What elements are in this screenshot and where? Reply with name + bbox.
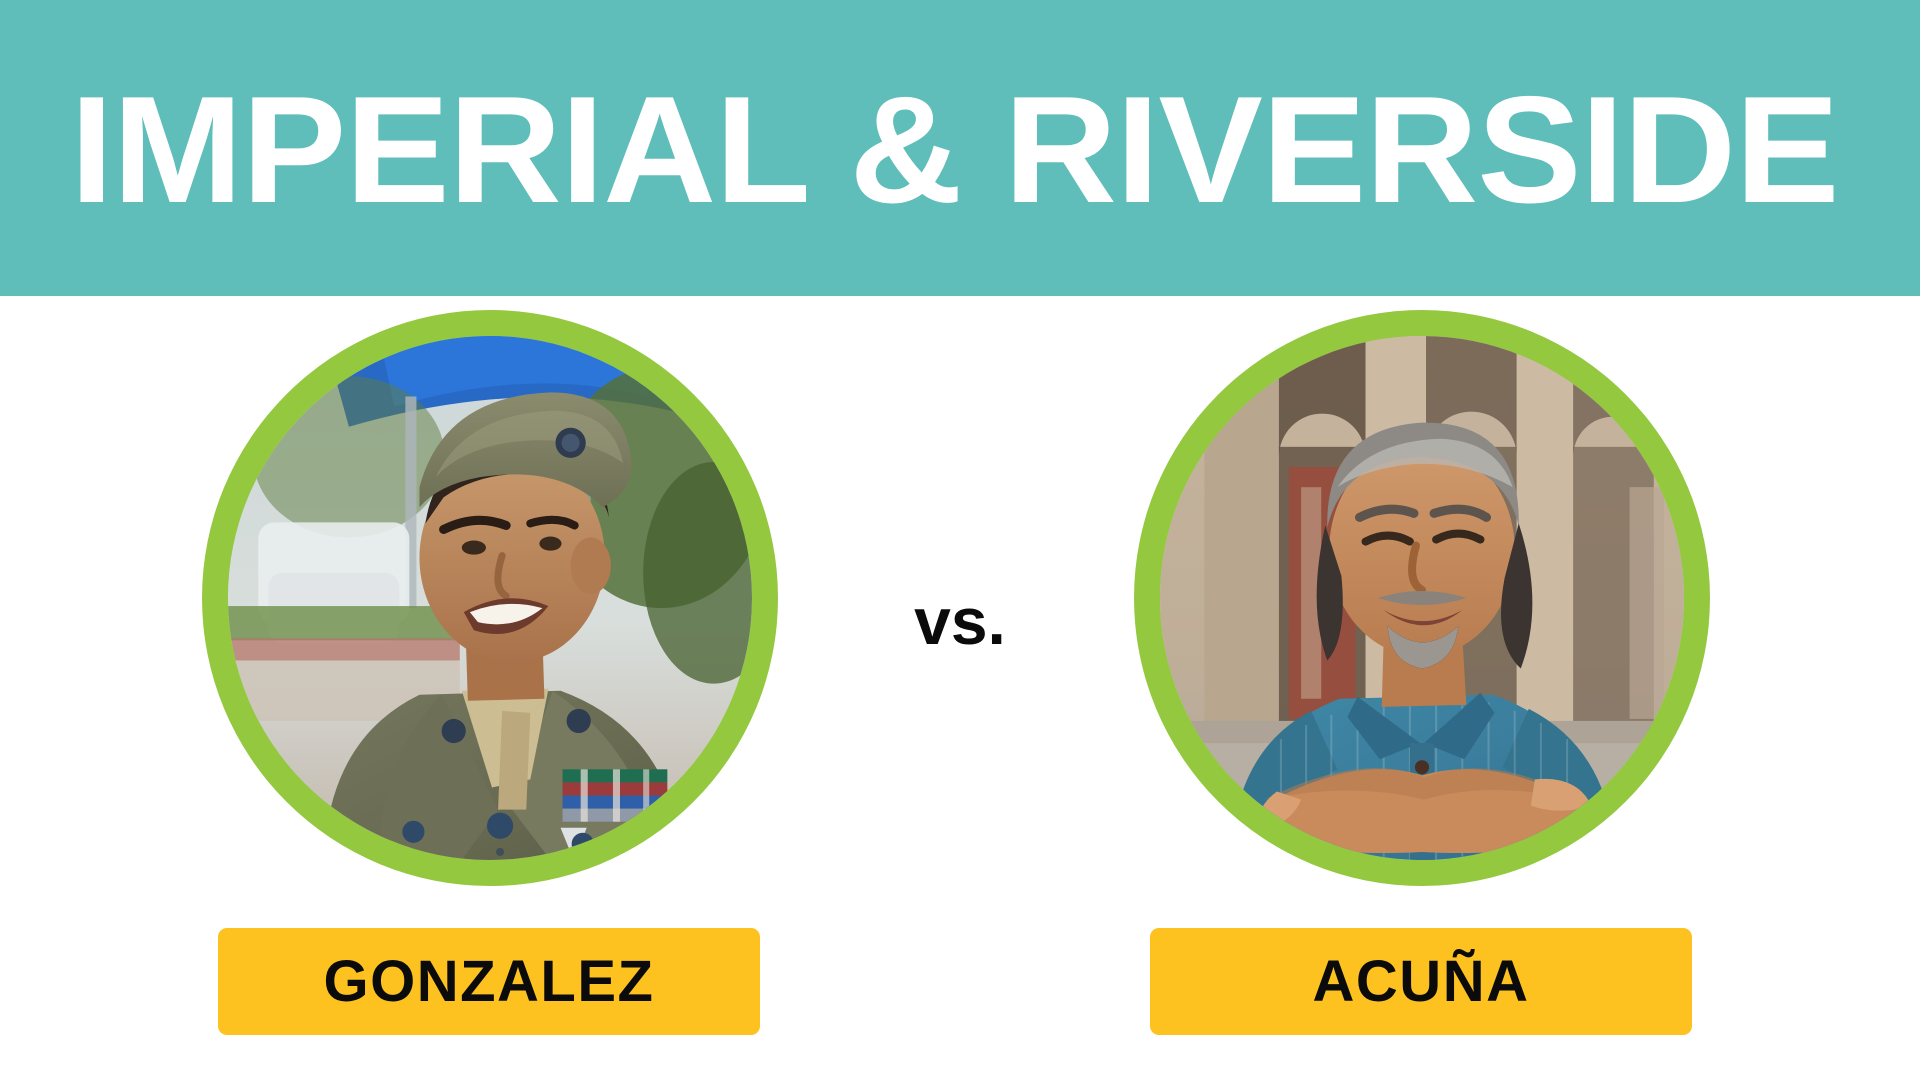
- nameplate-gonzalez[interactable]: GONZALEZ: [218, 928, 760, 1035]
- matchup-graphic: IMPERIAL & RIVERSIDE: [0, 0, 1920, 1080]
- page-title: IMPERIAL & RIVERSIDE: [70, 50, 1914, 250]
- matchup-row: GONZALEZ vs.: [0, 296, 1920, 1080]
- candidate-name-label: GONZALEZ: [324, 953, 655, 1011]
- candidate-card-acuna[interactable]: ACUÑA: [1112, 296, 1732, 1080]
- header-banner: IMPERIAL & RIVERSIDE: [0, 0, 1920, 296]
- avatar-acuna: [1160, 336, 1684, 860]
- portrait-ring-acuna: [1134, 310, 1710, 886]
- avatar-gonzalez: [228, 336, 752, 860]
- candidate-card-gonzalez[interactable]: GONZALEZ: [180, 296, 800, 1080]
- nameplate-acuna[interactable]: ACUÑA: [1150, 928, 1692, 1035]
- versus-label: vs.: [860, 566, 1060, 676]
- portrait-ring-gonzalez: [202, 310, 778, 886]
- candidate-name-label: ACUÑA: [1313, 953, 1530, 1011]
